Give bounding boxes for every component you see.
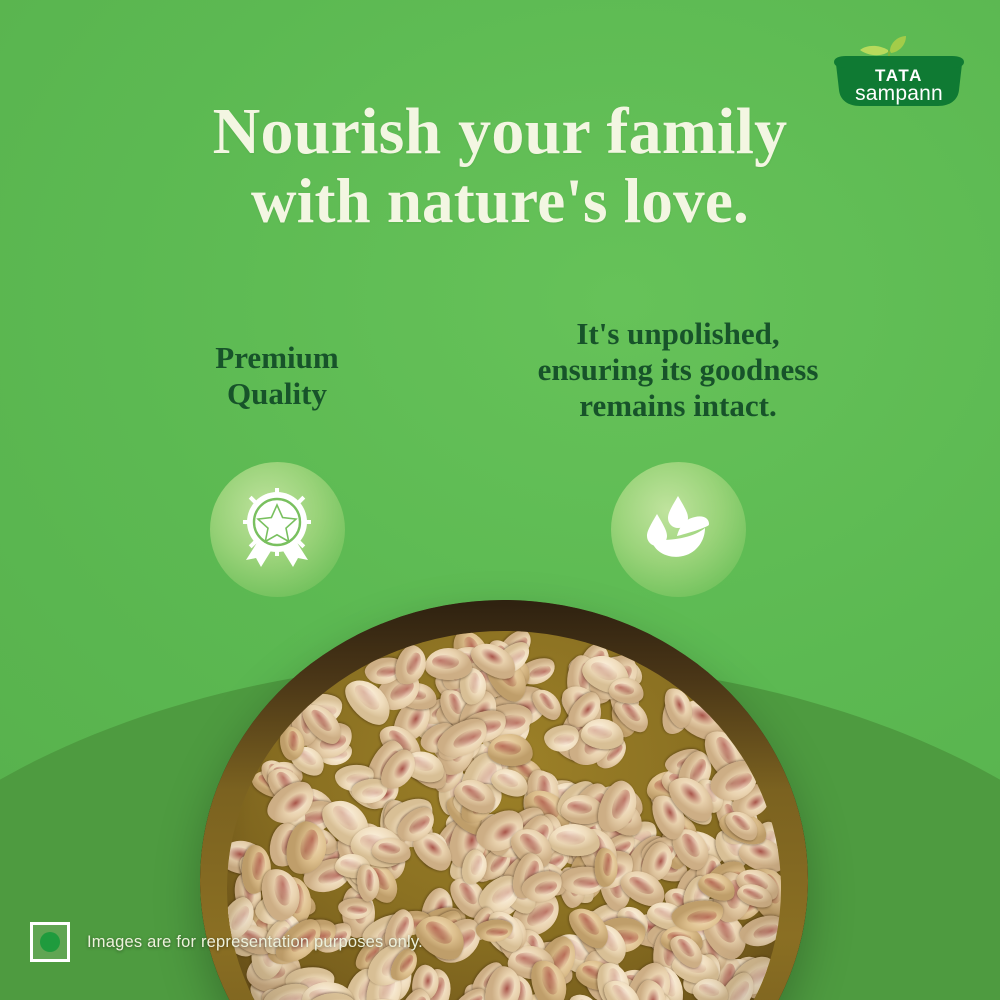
headline: Nourish your family with nature's love. [0,96,1000,235]
feature-text-line-1: Premium [215,340,338,375]
feature-text-line-1: It's unpolished, [576,316,779,351]
feature-premium-quality-label: Premium Quality [215,340,338,412]
feature-text-line-2: ensuring its goodness [538,352,819,387]
feature-row: Premium Quality [0,306,1000,597]
leaf-droplet-icon [637,488,719,570]
award-ribbon-icon [234,486,320,572]
feature-text-line-3: remains intact. [579,388,776,423]
headline-line-1: Nourish your family [90,96,910,167]
disclaimer-text: Images are for representation purposes o… [87,933,423,952]
feature-unpolished-label: It's unpolished, ensuring its goodness r… [538,316,819,424]
feature-unpolished: It's unpolished, ensuring its goodness r… [468,306,888,597]
headline-line-2: with nature's love. [90,167,910,235]
feature-premium-quality: Premium Quality [112,306,442,597]
feature-text-line-2: Quality [227,376,327,411]
award-ribbon-icon-badge [210,462,345,597]
vegetarian-mark [30,922,70,962]
leaf-droplet-icon-badge [611,462,746,597]
disclaimer: Images are for representation purposes o… [30,922,423,962]
advertisement-canvas: TATA sampann Nourish your family with na… [0,0,1000,1000]
tata-sampann-logo[interactable]: TATA sampann [826,36,972,108]
vegetarian-dot [40,932,60,952]
svg-text:sampann: sampann [855,82,943,105]
